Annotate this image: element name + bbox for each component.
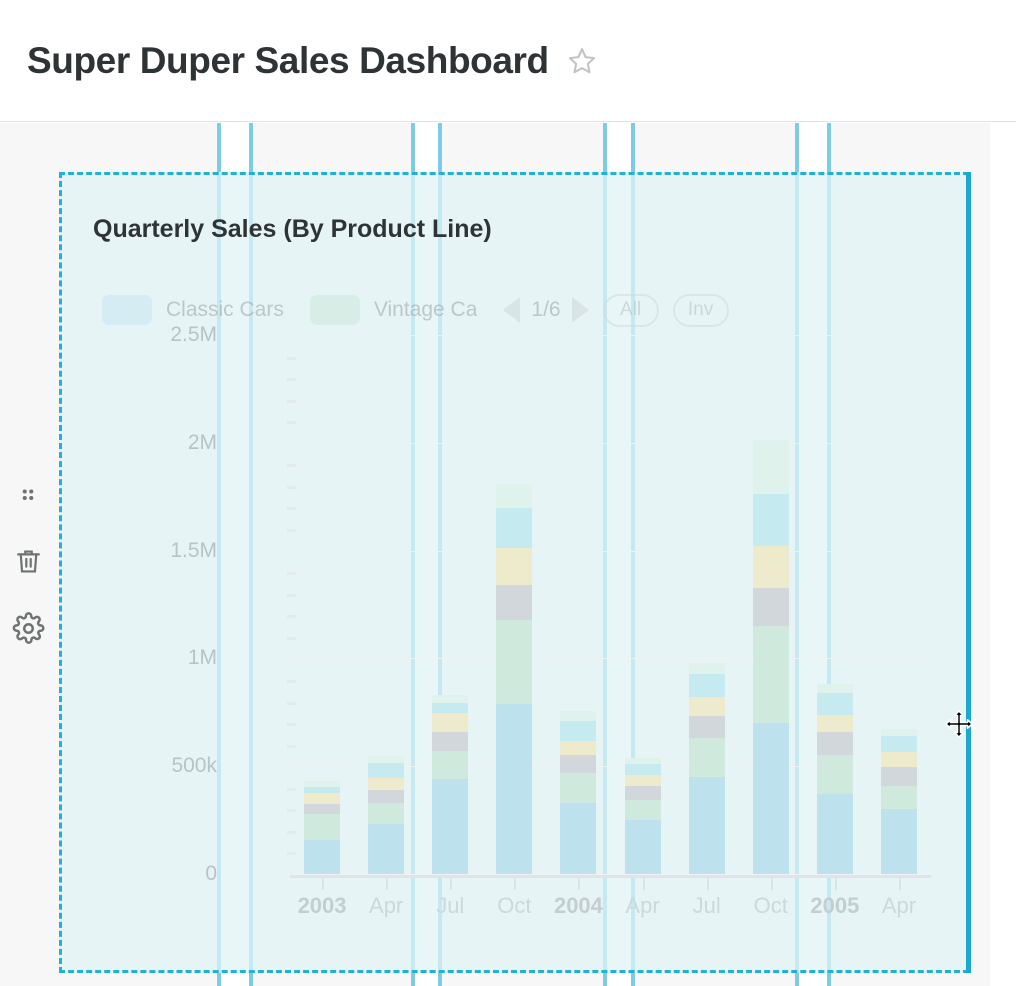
- x-tick: [835, 878, 837, 890]
- gear-icon[interactable]: [12, 612, 45, 650]
- bar-segment[interactable]: [625, 786, 661, 800]
- x-tick-label: Jul: [436, 893, 464, 919]
- triangle-right-icon[interactable]: [572, 297, 589, 323]
- y-minor-tick: [287, 615, 296, 618]
- drag-handle-icon[interactable]: [15, 485, 41, 516]
- y-minor-tick: [287, 421, 296, 424]
- chart-widget[interactable]: Quarterly Sales (By Product Line) Classi…: [59, 172, 969, 973]
- y-tick-label: 1M: [188, 646, 217, 670]
- y-minor-tick: [287, 572, 296, 575]
- app-header: Super Duper Sales Dashboard: [0, 0, 1016, 122]
- bar-segment[interactable]: [689, 663, 725, 674]
- x-tick-label: Apr: [369, 893, 403, 919]
- legend-item-label: Classic Cars: [166, 298, 284, 322]
- bar-segment[interactable]: [753, 626, 789, 723]
- legend-item[interactable]: Vintage Ca: [310, 295, 478, 325]
- bar-segment[interactable]: [304, 814, 340, 840]
- chart-legend[interactable]: Classic Cars Vintage Ca 1/6 All Inv: [102, 293, 729, 327]
- y-minor-tick: [287, 723, 296, 726]
- bar-segment[interactable]: [560, 711, 596, 721]
- legend-page-indicator: 1/6: [531, 298, 560, 322]
- y-tick-label: 2.5M: [170, 323, 217, 347]
- bar-stack[interactable]: [817, 684, 853, 874]
- y-axis-line: [290, 335, 291, 880]
- bar-segment[interactable]: [817, 794, 853, 874]
- bar-segment[interactable]: [753, 546, 789, 588]
- bar-segment[interactable]: [817, 732, 853, 756]
- y-minor-tick: [287, 637, 296, 640]
- y-minor-tick: [287, 702, 296, 705]
- x-tick-label: Oct: [497, 893, 531, 919]
- bar-segment[interactable]: [689, 738, 725, 777]
- y-minor-tick: [287, 529, 296, 532]
- bar-segment[interactable]: [368, 763, 404, 778]
- bar-segment[interactable]: [432, 703, 468, 714]
- bar-segment[interactable]: [753, 440, 789, 494]
- bar-segment[interactable]: [496, 704, 532, 874]
- bar-segment[interactable]: [368, 778, 404, 790]
- bar-segment[interactable]: [560, 803, 596, 874]
- bar-stack[interactable]: [304, 781, 340, 874]
- bar-segment[interactable]: [560, 773, 596, 803]
- trash-icon[interactable]: [13, 546, 44, 582]
- bar-segment[interactable]: [817, 693, 853, 715]
- bar-segment[interactable]: [368, 803, 404, 825]
- bar-segment[interactable]: [432, 732, 468, 751]
- x-tick: [707, 878, 709, 890]
- x-tick: [771, 878, 773, 890]
- bar-segment[interactable]: [625, 764, 661, 775]
- y-tick-label: 500k: [171, 754, 217, 778]
- x-tick-label: 2004: [554, 893, 603, 919]
- bar-stack[interactable]: [753, 440, 789, 874]
- y-minor-tick: [287, 464, 296, 467]
- page-title: Super Duper Sales Dashboard: [27, 40, 549, 82]
- triangle-left-icon[interactable]: [503, 297, 520, 323]
- bar-segment[interactable]: [753, 588, 789, 626]
- y-minor-tick: [287, 400, 296, 403]
- bar-segment[interactable]: [881, 729, 917, 737]
- legend-swatch-icon: [102, 295, 152, 325]
- dashboard-canvas[interactable]: Quarterly Sales (By Product Line) Classi…: [0, 123, 1016, 986]
- legend-item-label: Vintage Ca: [374, 298, 478, 322]
- bar-segment[interactable]: [881, 752, 917, 767]
- bar-segment[interactable]: [560, 721, 596, 741]
- gridline: [290, 443, 931, 444]
- bar-segment[interactable]: [432, 751, 468, 779]
- y-minor-tick: [287, 852, 296, 855]
- bar-segment[interactable]: [432, 695, 468, 703]
- chart-title: Quarterly Sales (By Product Line): [93, 215, 492, 244]
- x-tick: [322, 878, 324, 890]
- bar-stack[interactable]: [689, 663, 725, 874]
- x-tick: [578, 878, 580, 890]
- bar-segment[interactable]: [304, 840, 340, 874]
- bar-segment[interactable]: [368, 824, 404, 874]
- y-minor-tick: [287, 594, 296, 597]
- bar-segment[interactable]: [625, 775, 661, 786]
- gridline: [290, 335, 931, 336]
- bar-segment[interactable]: [496, 585, 532, 619]
- y-tick-label: 1.5M: [170, 539, 217, 563]
- bar-segment[interactable]: [817, 684, 853, 693]
- widget-resize-edge[interactable]: [966, 172, 971, 973]
- bar-stack[interactable]: [625, 758, 661, 874]
- invert-selection-button[interactable]: Inv: [673, 294, 729, 327]
- y-minor-tick: [287, 378, 296, 381]
- bar-segment[interactable]: [496, 548, 532, 585]
- bar-segment[interactable]: [753, 723, 789, 874]
- y-minor-tick: [287, 788, 296, 791]
- move-cursor: [944, 709, 974, 739]
- x-tick: [386, 878, 388, 890]
- bar-segment[interactable]: [496, 484, 532, 508]
- legend-item[interactable]: Classic Cars: [102, 295, 284, 325]
- x-tick: [643, 878, 645, 890]
- x-tick-label: Apr: [625, 893, 659, 919]
- x-tick-label: Jul: [693, 893, 721, 919]
- y-tick-label: 2M: [188, 431, 217, 455]
- grid-gutter: [990, 123, 1016, 986]
- y-minor-tick: [287, 809, 296, 812]
- bar-segment[interactable]: [881, 809, 917, 874]
- y-minor-tick: [287, 507, 296, 510]
- gridline: [290, 551, 931, 552]
- bar-segment[interactable]: [817, 715, 853, 732]
- y-tick-label: 0: [205, 862, 217, 886]
- bar-stack[interactable]: [881, 729, 917, 874]
- bar-stack[interactable]: [432, 695, 468, 874]
- bar-stack[interactable]: [496, 484, 532, 874]
- y-minor-tick: [287, 357, 296, 360]
- bar-segment[interactable]: [368, 790, 404, 803]
- bar-segment[interactable]: [881, 767, 917, 785]
- gridline: [290, 874, 931, 875]
- bar-segment[interactable]: [368, 756, 404, 764]
- x-tick-label: 2005: [810, 893, 859, 919]
- y-minor-tick: [287, 680, 296, 683]
- y-minor-tick: [287, 831, 296, 834]
- x-tick: [450, 878, 452, 890]
- chart-plot-area[interactable]: 0500k1M1.5M2M2.5M 2003AprJulOct2004AprJu…: [231, 335, 931, 880]
- y-minor-tick: [287, 486, 296, 489]
- bar-segment[interactable]: [881, 736, 917, 752]
- bar-segment[interactable]: [304, 804, 340, 814]
- bar-segment[interactable]: [689, 777, 725, 874]
- y-minor-tick: [287, 745, 296, 748]
- x-tick-label: 2003: [298, 893, 347, 919]
- bar-segment[interactable]: [689, 697, 725, 715]
- x-tick: [899, 878, 901, 890]
- bar-stack[interactable]: [368, 756, 404, 875]
- bar-segment[interactable]: [881, 786, 917, 810]
- bar-segment[interactable]: [625, 820, 661, 874]
- bar-stack[interactable]: [560, 711, 596, 874]
- x-tick-label: Oct: [754, 893, 788, 919]
- bar-segment[interactable]: [689, 674, 725, 698]
- bar-segment[interactable]: [817, 755, 853, 794]
- bar-segment[interactable]: [689, 716, 725, 739]
- legend-pager[interactable]: 1/6: [503, 297, 588, 323]
- bar-segment[interactable]: [432, 779, 468, 874]
- widget-toolbar[interactable]: [8, 485, 48, 680]
- star-outline-icon[interactable]: [567, 46, 597, 76]
- legend-swatch-icon: [310, 295, 360, 325]
- select-all-button[interactable]: All: [603, 294, 659, 327]
- x-tick-label: Apr: [882, 893, 916, 919]
- bar-segment[interactable]: [753, 494, 789, 547]
- bar-segment[interactable]: [496, 620, 532, 704]
- bar-segment[interactable]: [432, 713, 468, 731]
- bar-segment[interactable]: [625, 800, 661, 820]
- bar-segment[interactable]: [304, 793, 340, 804]
- bar-segment[interactable]: [496, 508, 532, 549]
- x-tick: [514, 878, 516, 890]
- bar-segment[interactable]: [560, 755, 596, 772]
- bar-segment[interactable]: [560, 741, 596, 755]
- gridline: [290, 658, 931, 659]
